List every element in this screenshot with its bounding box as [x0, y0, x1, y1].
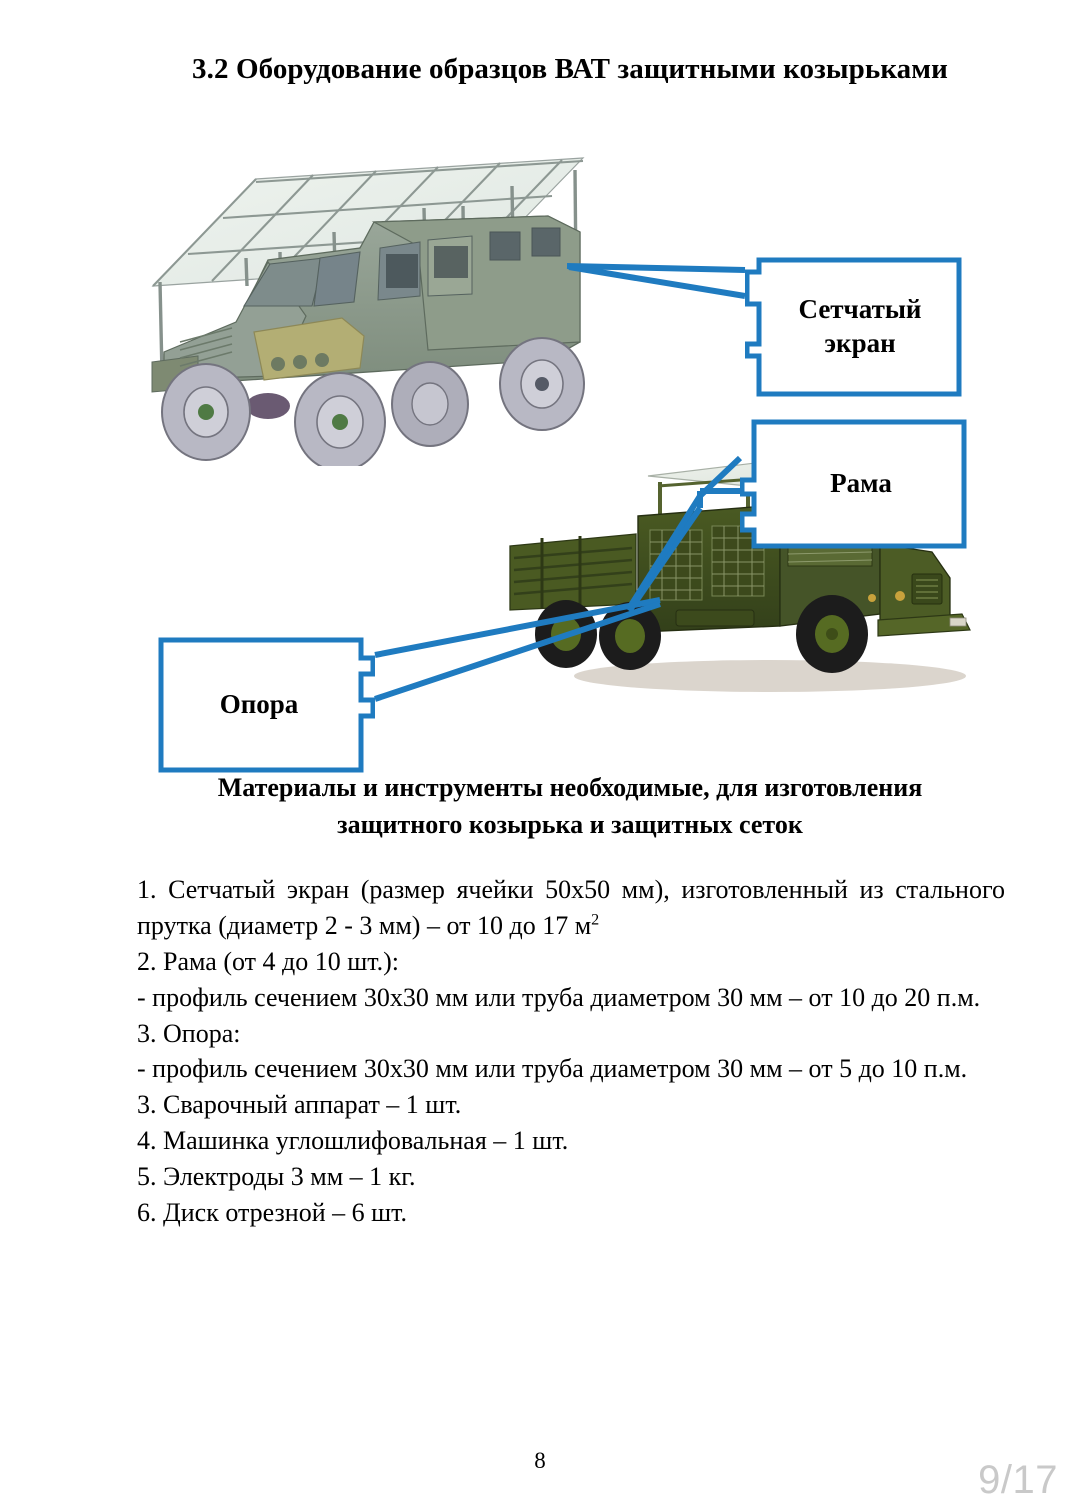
- vehicle-illustration-top: [128, 136, 598, 466]
- section-subtitle: Материалы и инструменты необходимые, для…: [140, 770, 1000, 844]
- list-item-3-sub: - профиль сечением 30х30 мм или труба ди…: [137, 1051, 1005, 1087]
- page-number: 8: [0, 1448, 1080, 1474]
- viewer-page-counter: 9/17: [978, 1458, 1058, 1503]
- figure-protective-canopy: Сетчатый экран Рама Опора: [0, 118, 1080, 718]
- list-item-7: 6. Диск отрезной – 6 шт.: [137, 1195, 1005, 1231]
- list-item-2-sub: - профиль сечением 30х30 мм или труба ди…: [137, 980, 1005, 1016]
- callout-mesh-screen-label-line1: Сетчатый: [798, 294, 921, 324]
- list-item-1-text: 1. Сетчатый экран (размер ячейки 50х50 м…: [137, 875, 1005, 940]
- list-item-1: 1. Сетчатый экран (размер ячейки 50х50 м…: [137, 872, 1005, 944]
- callout-frame[interactable]: Рама: [740, 418, 968, 550]
- page-title: 3.2 Оборудование образцов ВАТ защитными …: [130, 52, 1010, 87]
- list-item-2: 2. Рама (от 4 до 10 шт.):: [137, 944, 1005, 980]
- document-page: 3.2 Оборудование образцов ВАТ защитными …: [0, 0, 1080, 1511]
- list-item-1-superscript: 2: [591, 911, 599, 928]
- list-item-5: 4. Машинка углошлифовальная – 1 шт.: [137, 1123, 1005, 1159]
- callout-mesh-screen-label: Сетчатый экран: [745, 256, 963, 398]
- list-item-6: 5. Электроды 3 мм – 1 кг.: [137, 1159, 1005, 1195]
- callout-support[interactable]: Опора: [157, 636, 375, 774]
- section-subtitle-line2: защитного козырька и защитных сеток: [337, 810, 803, 839]
- callout-mesh-screen-label-line2: экран: [824, 328, 895, 358]
- callout-support-label: Опора: [157, 636, 375, 774]
- list-item-4: 3. Сварочный аппарат – 1 шт.: [137, 1087, 1005, 1123]
- callout-mesh-screen[interactable]: Сетчатый экран: [745, 256, 963, 398]
- list-item-3: 3. Опора:: [137, 1016, 1005, 1052]
- materials-list: 1. Сетчатый экран (размер ячейки 50х50 м…: [137, 872, 1005, 1231]
- callout-frame-label: Рама: [740, 418, 968, 550]
- section-subtitle-line1: Материалы и инструменты необходимые, для…: [218, 773, 923, 802]
